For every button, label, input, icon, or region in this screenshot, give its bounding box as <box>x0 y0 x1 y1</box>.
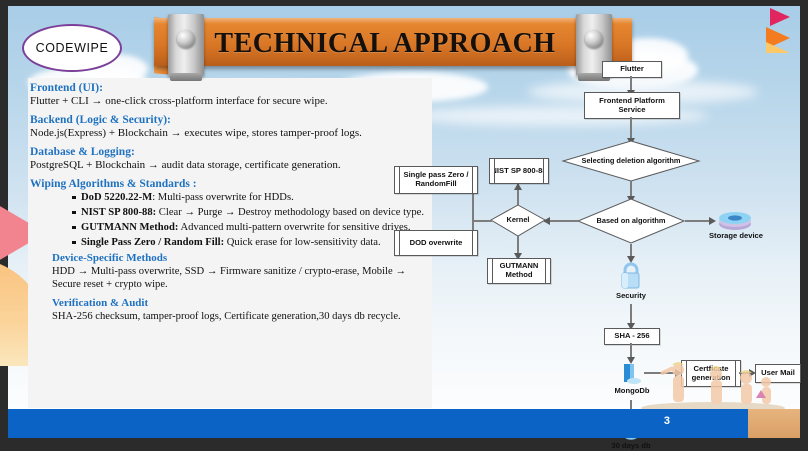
bracket-left <box>168 14 204 76</box>
node-based-on-algorithm: Based on algorithm <box>577 198 685 244</box>
label-recycle: 30 days db recycle <box>598 442 664 451</box>
section-heading-device-methods: Device-Specific Methods <box>52 252 430 264</box>
architecture-flowchart: Flutter Frontend Platform Service Select… <box>432 58 800 403</box>
section-body-verification: SHA-256 checksum, tamper-proof logs, Cer… <box>52 310 430 323</box>
page-number: 3 <box>664 415 670 427</box>
node-label: Selecting deletion algorithm <box>562 140 700 182</box>
bolt-icon <box>585 30 603 48</box>
crowd-decoration <box>638 356 788 411</box>
footer-tab <box>748 409 800 438</box>
slide-canvas: CODEWIPE TECHNICAL APPROACH Frontend (UI… <box>0 0 808 451</box>
node-label: SHA - 256 <box>614 332 649 341</box>
arrow-head-icon <box>708 216 716 226</box>
node-label: Single pass Zero / RandomFill <box>395 171 477 189</box>
node-label: Flutter <box>620 65 644 74</box>
algorithm-desc: Clear → Purge → Destroy methodology base… <box>156 207 424 218</box>
section-body-backend: Node.js(Express) + Blockchain → executes… <box>30 127 430 141</box>
content-text: Frontend (UI): Flutter + CLI → one-click… <box>30 82 430 328</box>
node-nist-sp-800-88: NIST SP 800-88 <box>489 158 549 184</box>
logo-codewipe: CODEWIPE <box>22 24 122 72</box>
algorithm-desc: : Multi-pass overwrite for HDDs. <box>152 192 294 203</box>
node-label: GUTMANN Method <box>488 262 550 280</box>
list-item: NIST SP 800-88: Clear → Purge → Destroy … <box>72 206 430 220</box>
bolt-icon <box>177 30 195 48</box>
label-security: Security <box>602 292 660 301</box>
node-label: Frontend Platform Service <box>585 97 679 115</box>
section-heading-algorithms: Wiping Algorithms & Standards : <box>30 178 430 190</box>
node-kernel: Kernel <box>490 204 546 237</box>
section-body-frontend: Flutter + CLI → one-click cross-platform… <box>30 95 430 109</box>
connector <box>472 220 492 222</box>
node-label: Kernel <box>490 204 546 237</box>
list-item: Single Pass Zero / Random Fill: Quick er… <box>72 236 430 250</box>
algorithm-list: DoD 5220.22-M: Multi-pass overwrite for … <box>30 191 430 250</box>
section-body-database: PostgreSQL + Blockchain → audit data sto… <box>30 159 430 173</box>
section-heading-database: Database & Logging: <box>30 146 430 158</box>
algorithm-desc: Quick erase for low-sensitivity data. <box>224 237 381 248</box>
section-body-device-methods: HDD → Multi-pass overwrite, SSD → Firmwa… <box>52 265 430 292</box>
list-item: GUTMANN Method: Advanced multi-pattern o… <box>72 221 430 235</box>
node-flutter: Flutter <box>602 61 662 78</box>
label-storage-device: Storage device <box>708 232 764 241</box>
logo-label: CODEWIPE <box>36 41 109 55</box>
node-label: Based on algorithm <box>577 198 685 244</box>
footer-bar <box>8 409 748 438</box>
section-heading-frontend: Frontend (UI): <box>30 82 430 94</box>
algorithm-desc: Advanced multi-pattern overwrite for sen… <box>178 222 410 233</box>
algorithm-name: NIST SP 800-88: <box>81 207 156 218</box>
deco-triangle-yellow <box>766 42 790 53</box>
node-label: NIST SP 800-88 <box>491 167 546 176</box>
node-single-pass-zero: Single pass Zero / RandomFill <box>394 166 478 194</box>
section-heading-verification: Verification & Audit <box>52 297 430 309</box>
node-gutmann-method: GUTMANN Method <box>487 258 551 284</box>
node-selecting-algorithm: Selecting deletion algorithm <box>562 140 700 182</box>
node-label: DOD overwrite <box>410 239 463 248</box>
node-frontend-service: Frontend Platform Service <box>584 92 680 119</box>
device-methods-block: Device-Specific Methods HDD → Multi-pass… <box>52 252 430 323</box>
algorithm-name: GUTMANN Method: <box>81 222 178 233</box>
algorithm-name: DoD 5220.22-M <box>81 192 152 203</box>
list-item: DoD 5220.22-M: Multi-pass overwrite for … <box>72 191 430 205</box>
node-dod-overwrite: DOD overwrite <box>394 230 478 256</box>
deco-triangle-pink <box>770 8 790 26</box>
node-sha-256: SHA - 256 <box>604 328 660 345</box>
section-heading-backend: Backend (Logic & Security): <box>30 114 430 126</box>
algorithm-name: Single Pass Zero / Random Fill: <box>81 237 224 248</box>
